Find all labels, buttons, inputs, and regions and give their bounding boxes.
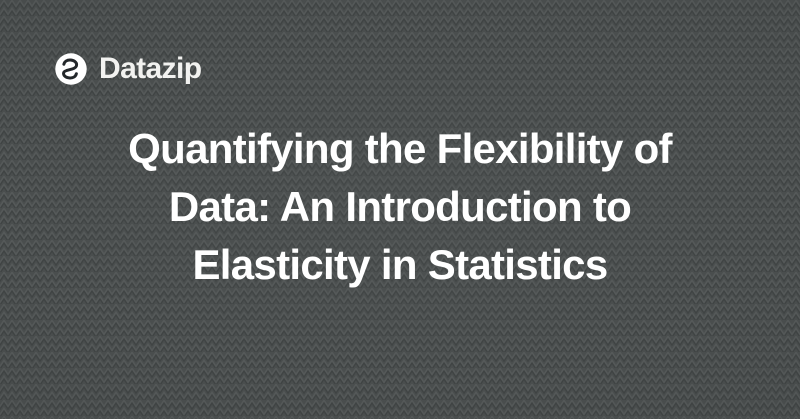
blog-cover-card: Datazip Quantifying the Flexibility of D… (0, 0, 800, 419)
cover-title-line-2: Data: An Introduction to (60, 178, 740, 236)
cover-title-line-3: Elasticity in Statistics (60, 236, 740, 294)
datazip-z-circle-logo-icon (54, 52, 88, 86)
cover-title-line-1: Quantifying the Flexibility of (60, 120, 740, 178)
brand-name-text: Datazip (99, 54, 202, 84)
brand-logo[interactable]: Datazip (54, 52, 202, 86)
cover-title: Quantifying the Flexibility of Data: An … (0, 120, 800, 294)
